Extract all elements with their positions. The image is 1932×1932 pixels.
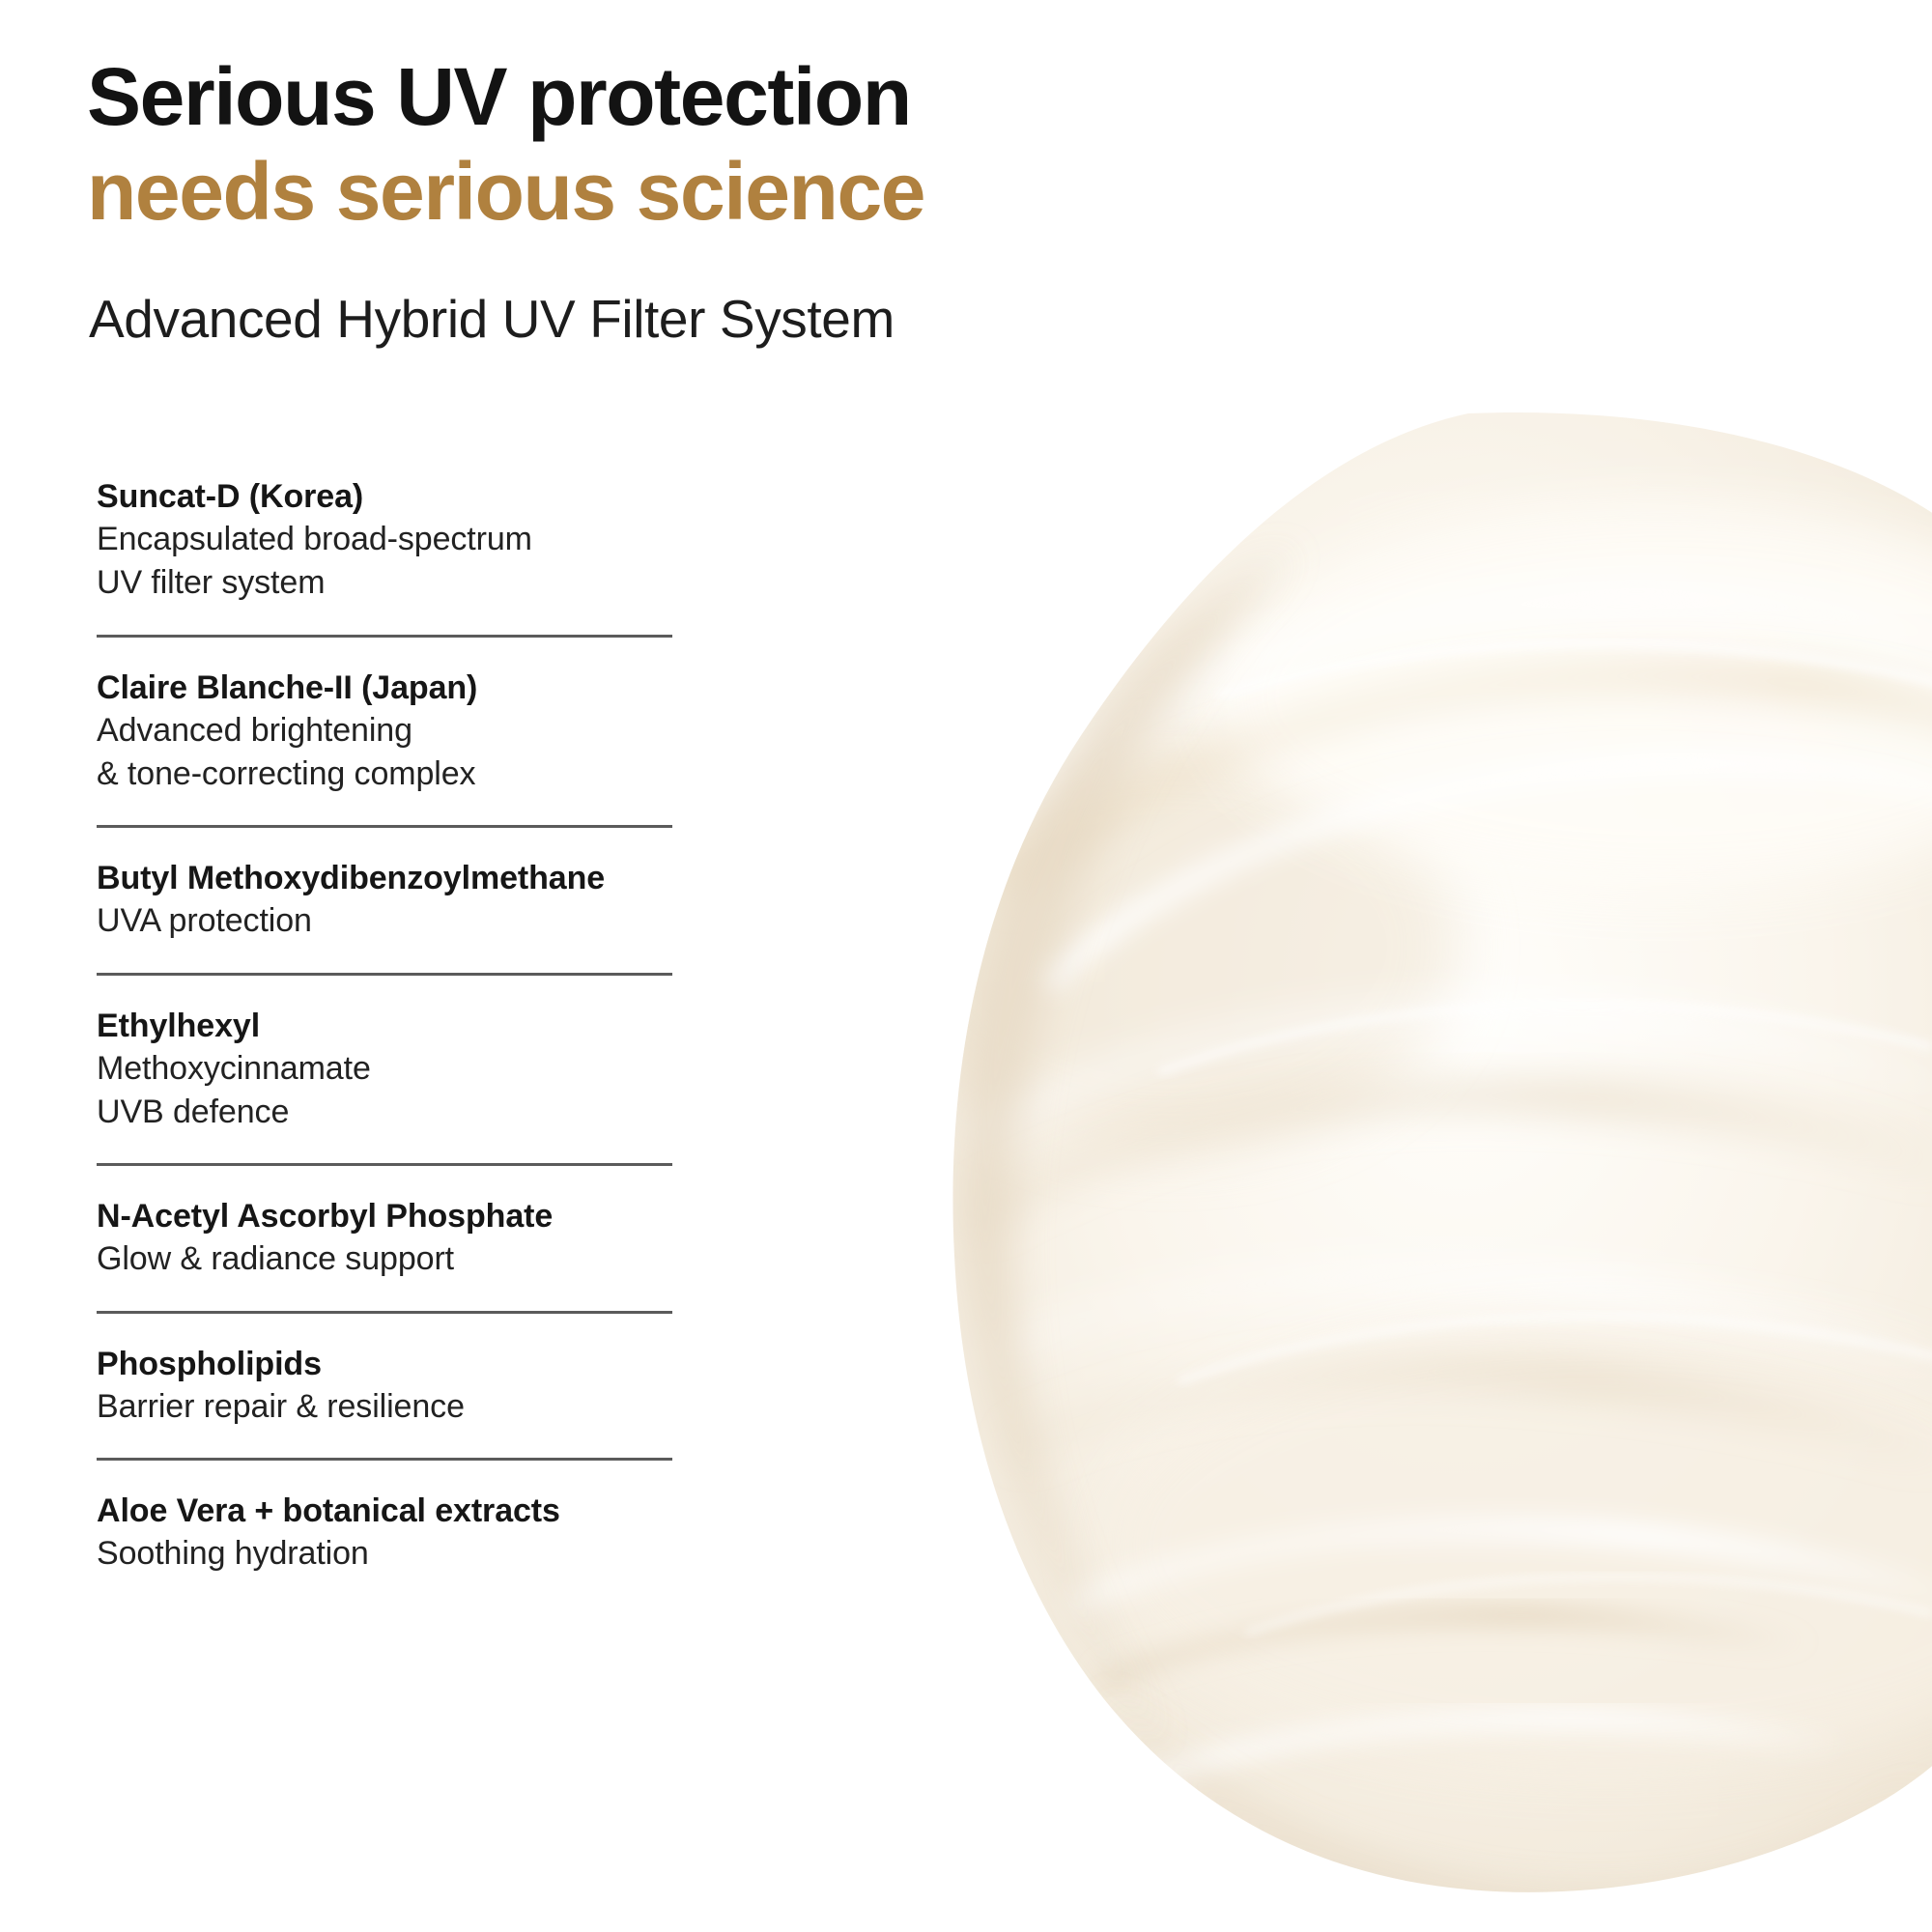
ingredient-name: Ethylhexyl — [97, 1005, 696, 1047]
headline-line-2-accent: needs serious science — [87, 146, 1198, 237]
ingredient-name: Butyl Methoxydibenzoylmethane — [97, 857, 696, 899]
ingredient-name: Aloe Vera + botanical extracts — [97, 1490, 696, 1532]
spacer — [97, 828, 696, 857]
ingredient-item: Claire Blanche-II (Japan)Advanced bright… — [97, 667, 696, 797]
ingredient-name: Suncat-D (Korea) — [97, 475, 696, 518]
ingredient-description: UVA protection — [97, 899, 696, 943]
ingredient-description: Glow & radiance support — [97, 1237, 696, 1281]
spacer — [97, 1282, 696, 1311]
headline-block: Serious UV protection needs serious scie… — [87, 54, 1198, 237]
ingredient-name: Phospholipids — [97, 1343, 696, 1385]
spacer — [97, 638, 696, 667]
infographic-canvas: Serious UV protection needs serious scie… — [0, 0, 1932, 1932]
spacer — [97, 1314, 696, 1343]
spacer — [97, 1166, 696, 1195]
ingredient-description: Soothing hydration — [97, 1532, 696, 1576]
ingredient-item: Butyl MethoxydibenzoylmethaneUVA protect… — [97, 857, 696, 943]
spacer — [97, 1461, 696, 1490]
ingredient-item: Suncat-D (Korea)Encapsulated broad-spect… — [97, 475, 696, 606]
spacer — [97, 944, 696, 973]
headline-line-1: Serious UV protection — [87, 54, 1198, 140]
spacer — [97, 606, 696, 635]
ingredient-description: Encapsulated broad-spectrum UV filter sy… — [97, 518, 696, 605]
ingredient-list: Suncat-D (Korea)Encapsulated broad-spect… — [97, 475, 696, 1577]
ingredient-description: Advanced brightening & tone-correcting c… — [97, 709, 696, 796]
ingredient-item: N-Acetyl Ascorbyl PhosphateGlow & radian… — [97, 1195, 696, 1281]
spacer — [97, 796, 696, 825]
ingredient-item: EthylhexylMethoxycinnamate UVB defence — [97, 1005, 696, 1135]
subheading: Advanced Hybrid UV Filter System — [89, 288, 895, 350]
spacer — [97, 1134, 696, 1163]
cream-swatch-image — [927, 406, 1932, 1913]
spacer — [97, 1429, 696, 1458]
ingredient-name: N-Acetyl Ascorbyl Phosphate — [97, 1195, 696, 1237]
ingredient-item: PhospholipidsBarrier repair & resilience — [97, 1343, 696, 1429]
ingredient-description: Methoxycinnamate UVB defence — [97, 1047, 696, 1134]
ingredient-item: Aloe Vera + botanical extractsSoothing h… — [97, 1490, 696, 1576]
ingredient-name: Claire Blanche-II (Japan) — [97, 667, 696, 709]
spacer — [97, 976, 696, 1005]
ingredient-description: Barrier repair & resilience — [97, 1385, 696, 1429]
